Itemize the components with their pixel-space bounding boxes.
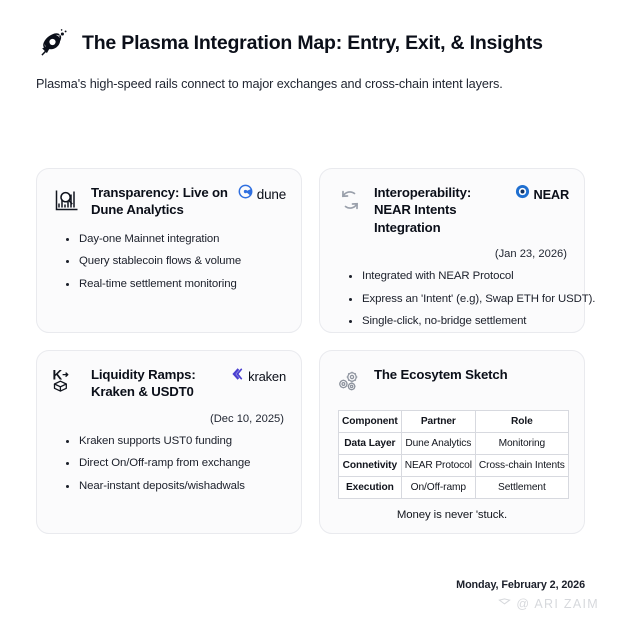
dune-logo-icon	[238, 184, 253, 204]
bar-chart-search-icon	[52, 185, 82, 215]
gears-icon	[335, 367, 365, 397]
card-header: Interoperability: NEAR Intents Integrati…	[335, 184, 569, 236]
table-cell: On/Off-ramp	[401, 477, 475, 499]
partner-label: dune	[257, 187, 286, 202]
card-date: (Jan 23, 2026)	[335, 248, 567, 260]
list-item: Day-one Mainnet integration	[66, 233, 286, 246]
footer-date: Monday, February 2, 2026	[456, 579, 585, 591]
svg-text:K: K	[53, 368, 63, 383]
near-logo-icon	[515, 184, 530, 204]
list-item: Single-click, no-bridge settlement	[349, 315, 569, 328]
list-item: Kraken supports UST0 funding	[66, 435, 286, 448]
sync-arrows-icon	[335, 185, 365, 215]
card-title: Interoperability: NEAR Intents Integrati…	[374, 184, 506, 236]
card-bullet-list: Integrated with NEAR Protocol Express an…	[335, 270, 569, 328]
card-title: Liquidity Ramps: Kraken & USDT0	[91, 366, 219, 401]
table-cell: Data Layer	[339, 433, 402, 455]
rocket-planet-icon	[36, 26, 70, 60]
table-cell: Execution	[339, 477, 402, 499]
title-row: The Plasma Integration Map: Entry, Exit,…	[36, 26, 585, 60]
watermark-text: @ ARI ZAIM	[516, 597, 599, 611]
card-title: Transparency: Live on Dune Analytics	[91, 184, 229, 219]
list-item: Direct On/Off-ramp from exchange	[66, 457, 286, 470]
card-title: The Ecosytem Sketch	[374, 366, 569, 383]
partner-label: NEAR	[534, 187, 569, 202]
watermark-logo-icon	[498, 595, 511, 613]
card-header: K Liquidity Ramps: Kraken & USDT0	[52, 366, 286, 401]
card-transparency-dune[interactable]: Transparency: Live on Dune Analytics dun…	[36, 168, 302, 333]
card-bullet-list: Day-one Mainnet integration Query stable…	[52, 233, 286, 291]
table-cell: Settlement	[475, 477, 568, 499]
page-subtitle: Plasma's high-speed rails connect to maj…	[36, 77, 585, 91]
table-row: Connetivity NEAR Protocol Cross-chain In…	[339, 455, 569, 477]
table-row: Execution On/Off-ramp Settlement	[339, 477, 569, 499]
card-header: The Ecosytem Sketch	[335, 366, 569, 397]
partner-dune[interactable]: dune	[238, 184, 286, 204]
ecosystem-footnote: Money is never 'stuck.	[335, 509, 569, 521]
header: The Plasma Integration Map: Entry, Exit,…	[0, 0, 621, 91]
table-cell: Connetivity	[339, 455, 402, 477]
page-title: The Plasma Integration Map: Entry, Exit,…	[82, 32, 543, 55]
column-header: Partner	[401, 411, 475, 433]
slide-canvas: The Plasma Integration Map: Entry, Exit,…	[0, 0, 621, 621]
column-header: Component	[339, 411, 402, 433]
partner-kraken[interactable]: kraken	[228, 366, 286, 387]
list-item: Real-time settlement monitoring	[66, 278, 286, 291]
kraken-box-icon: K	[52, 367, 82, 397]
watermark: @ ARI ZAIM	[498, 595, 599, 613]
list-item: Near-instant deposits/wishadwals	[66, 480, 286, 493]
card-ecosystem-sketch[interactable]: The Ecosytem Sketch Component Partner Ro…	[319, 350, 585, 534]
table-cell: Dune Analytics	[401, 433, 475, 455]
card-bullet-list: Kraken supports UST0 funding Direct On/O…	[52, 435, 286, 493]
list-item: Query stablecoin flows & volume	[66, 255, 286, 268]
card-header: Transparency: Live on Dune Analytics dun…	[52, 184, 286, 219]
column-header: Role	[475, 411, 568, 433]
partner-near[interactable]: NEAR	[515, 184, 569, 204]
table-row: Data Layer Dune Analytics Monitoring	[339, 433, 569, 455]
partner-label: kraken	[248, 369, 286, 384]
table-cell: Cross-chain Intents	[475, 455, 568, 477]
card-interoperability-near[interactable]: Interoperability: NEAR Intents Integrati…	[319, 168, 585, 333]
table-cell: Monitoring	[475, 433, 568, 455]
card-liquidity-kraken[interactable]: K Liquidity Ramps: Kraken & USDT0	[36, 350, 302, 534]
table-header-row: Component Partner Role	[339, 411, 569, 433]
table-cell: NEAR Protocol	[401, 455, 475, 477]
card-date: (Dec 10, 2025)	[52, 413, 284, 425]
ecosystem-table: Component Partner Role Data Layer Dune A…	[338, 410, 569, 499]
list-item: Integrated with NEAR Protocol	[349, 270, 569, 283]
card-grid: Transparency: Live on Dune Analytics dun…	[36, 168, 585, 534]
kraken-logo-icon	[228, 366, 244, 387]
list-item: Express an 'Intent' (e.g), Swap ETH for …	[349, 293, 569, 306]
